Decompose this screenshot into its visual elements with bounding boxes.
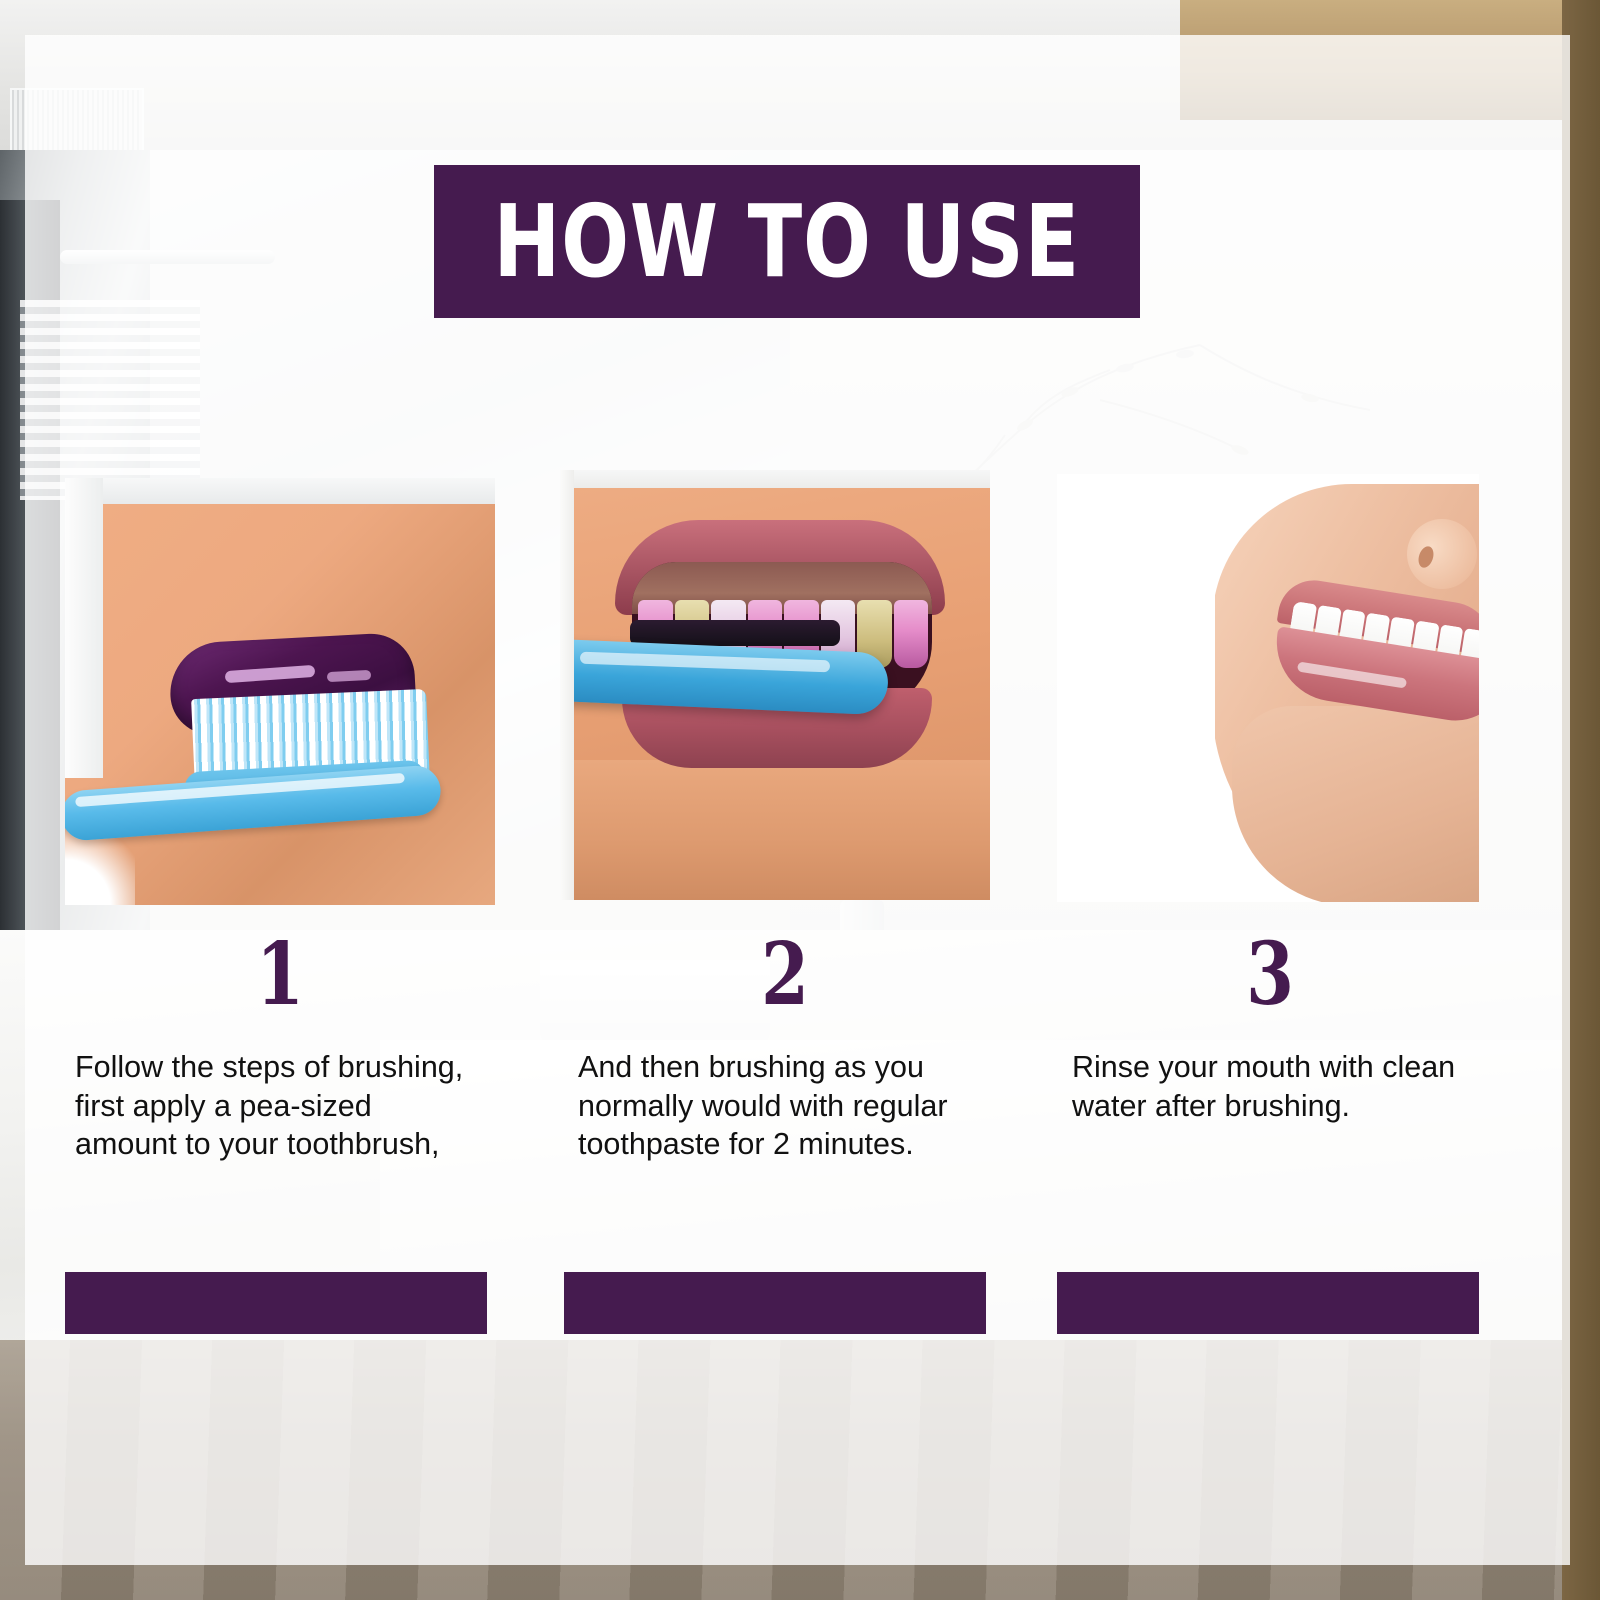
toothbrush-with-purple-toothpaste-photo xyxy=(65,478,495,905)
step-number-1: 1 xyxy=(108,932,452,1018)
step-bar-1 xyxy=(65,1272,487,1334)
white-smile-after-brushing-photo xyxy=(1057,474,1479,902)
white-left-area xyxy=(1057,474,1215,902)
step-number-2: 2 xyxy=(613,932,957,1018)
step-description-3: Rinse your mouth with clean water after … xyxy=(1072,1048,1472,1125)
nose xyxy=(1407,519,1477,589)
how-to-use-poster: HOW TO USE 1 Follow the s xyxy=(0,0,1600,1600)
step-description-2: And then brushing as you normally would … xyxy=(578,1048,978,1164)
brushing-stained-teeth-photo xyxy=(560,470,990,900)
steps-container: 1 Follow the steps of brushing, first ap… xyxy=(0,0,1600,1600)
step-bar-2 xyxy=(564,1272,986,1334)
step-number-3: 3 xyxy=(1098,932,1442,1018)
step-bar-3 xyxy=(1057,1272,1479,1334)
step-description-1: Follow the steps of brushing, first appl… xyxy=(75,1048,475,1164)
chin-area xyxy=(560,760,990,900)
